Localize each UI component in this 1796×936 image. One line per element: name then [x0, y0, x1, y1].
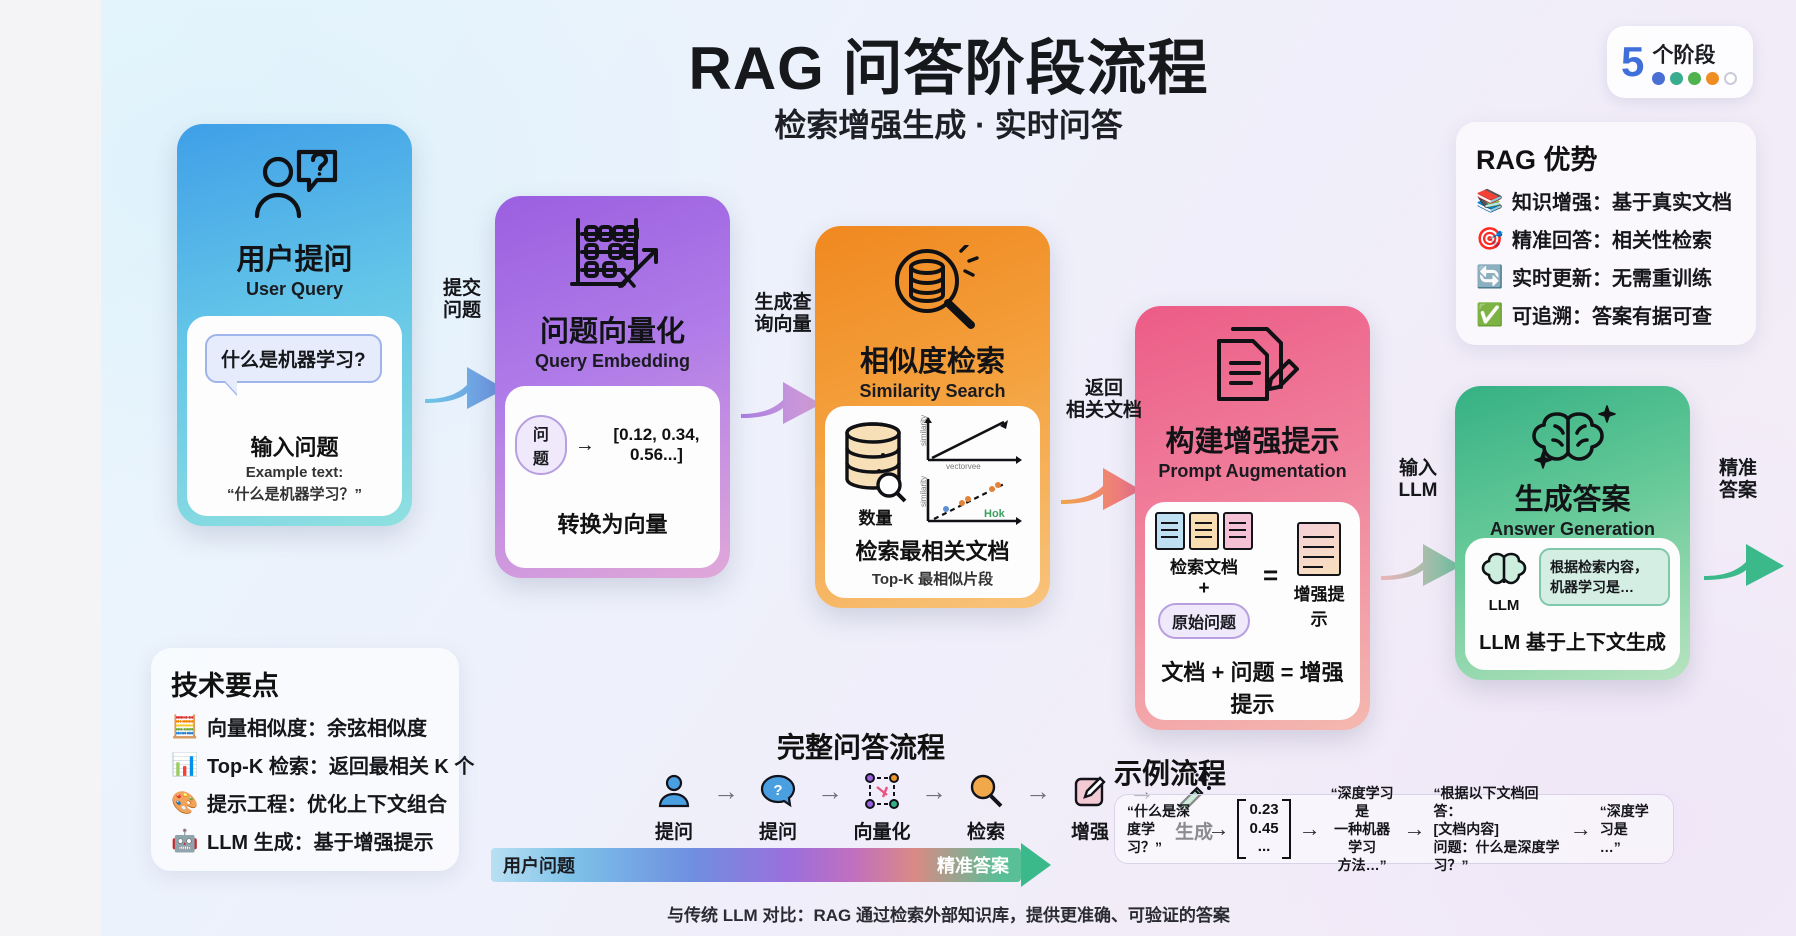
flow-separator: → — [811, 768, 849, 814]
flow-step-label: 向量化 — [849, 817, 915, 844]
stage-title-cn: 生成答案 — [1455, 476, 1690, 518]
arrow-label-1: 提交问题 — [431, 278, 493, 323]
example-cell-question: “什么是深度学习？” — [1127, 802, 1199, 857]
result-label: 增强提示 — [1288, 580, 1350, 630]
query-pill: 问题 — [515, 415, 567, 475]
stage-count-badge: 5 个阶段 — [1607, 26, 1753, 98]
magnifier-database-icon — [815, 240, 1050, 336]
svg-text:vectorvee: vectorvee — [946, 462, 981, 470]
advantage-item: 🎯 精准回答：相关性检索 — [1476, 224, 1736, 253]
stage-dot — [1688, 72, 1701, 85]
flow-separator: → — [915, 768, 953, 814]
palette-icon: 🎨 — [171, 790, 197, 816]
flow-bar-right-label: 精准答案 — [937, 852, 1009, 878]
stage-count-number: 5 — [1621, 41, 1644, 83]
tech-point-text: 提示工程：优化上下文组合 — [207, 788, 447, 817]
docs-label: 检索文档 — [1155, 553, 1253, 578]
example-cell-prompt: “根据以下文档回答：[文档内容]问题：什么是深度学习？” — [1434, 784, 1562, 875]
flow-bar-left-label: 用户问题 — [503, 852, 575, 878]
tech-point-item: 📊 Top-K 检索：返回最相关 K 个 — [171, 750, 439, 779]
tech-point-item: 🎨 提示工程：优化上下文组合 — [171, 788, 439, 817]
example-title: 示例流程 — [1114, 752, 1226, 792]
advantages-title: RAG 优势 — [1476, 138, 1736, 177]
stage-title-en: User Query — [177, 279, 412, 300]
stage-dot — [1706, 72, 1719, 85]
svg-text:Hok: Hok — [984, 508, 1006, 520]
stage-body-sub: Top-K 最相似片段 — [835, 568, 1030, 589]
tech-point-text: 向量相似度：余弦相似度 — [207, 712, 427, 741]
similarity-scatter-chart: similarity Hok — [920, 475, 1030, 531]
llm-label: LLM — [1475, 597, 1533, 614]
stage-title-en: Prompt Augmentation — [1135, 461, 1370, 482]
flow-step[interactable]: 向量化 — [849, 768, 915, 844]
example-arrow: → — [1402, 816, 1428, 842]
person-icon — [641, 768, 707, 814]
stage-body-main: 输入问题 — [197, 430, 392, 462]
llm-brain-icon — [1481, 548, 1527, 592]
flow-arrow-4 — [1379, 522, 1465, 588]
example-cell-answer: “深度学习是…” — [1600, 802, 1661, 857]
books-icon: 📚 — [1476, 188, 1502, 214]
flow-arrow-5 — [1701, 522, 1789, 588]
stage-title-cn: 构建增强提示 — [1135, 418, 1370, 460]
vector-value: [0.12, 0.34, 0.56...] — [603, 425, 710, 465]
stage-card-prompt-augmentation[interactable]: 构建增强提示 Prompt Augmentation 检索文档 + 原始问题 — [1135, 306, 1370, 730]
flow-separator: → — [707, 768, 745, 814]
stage-body-main: 转换为向量 — [515, 507, 710, 539]
flow-progress-bar: 用户问题 精准答案 — [491, 848, 1021, 882]
stage-body-main: LLM 基于上下文生成 — [1475, 626, 1670, 655]
user-question-icon — [177, 138, 412, 234]
arrow-label-2: 生成查询向量 — [745, 292, 821, 337]
tech-point-item: 🤖 LLM 生成：基于增强提示 — [171, 826, 439, 855]
stage-body-main: 检索最相关文档 — [835, 534, 1030, 566]
answer-bubble: 根据检索内容， 机器学习是… — [1539, 548, 1670, 606]
rag-advantages-panel: RAG 优势 📚 知识增强：基于真实文档 🎯 精准回答：相关性检索 🔄 实时更新… — [1456, 122, 1756, 345]
stage-dot — [1670, 72, 1683, 85]
tech-point-item: 🧮 向量相似度：余弦相似度 — [171, 712, 439, 741]
flow-bar-arrow-tip — [1021, 843, 1051, 887]
equals-sign: = — [1263, 560, 1278, 591]
bar-chart-icon: 📊 — [171, 752, 197, 778]
magnifier-icon — [953, 768, 1019, 814]
example-arrow: → — [1568, 816, 1594, 842]
tech-point-text: Top-K 检索：返回最相关 K 个 — [207, 750, 474, 779]
similarity-line-chart: similarity vectorvee — [920, 412, 1030, 470]
stage-dots — [1652, 72, 1737, 85]
example-arrow: → — [1205, 816, 1231, 842]
flow-step-label: 提问 — [641, 817, 707, 844]
stage-card-user-query[interactable]: 用户提问 User Query 什么是机器学习? 输入问题 Example te… — [177, 124, 412, 526]
svg-text:?: ? — [773, 782, 782, 799]
example-cell-vector: 0.23 0.45 ... — [1237, 799, 1290, 859]
stage-body-main: 文档 + 问题 = 增强提示 — [1155, 655, 1350, 719]
advantage-item: 🔄 实时更新：无需重训练 — [1476, 262, 1736, 291]
infographic-canvas: RAG 问答阶段流程 检索增强生成 · 实时问答 5 个阶段 — [101, 0, 1796, 936]
stage-title-cn: 相似度检索 — [815, 338, 1050, 380]
stage-card-similarity-search[interactable]: 相似度检索 Similarity Search — [815, 226, 1050, 608]
plus-sign: + — [1155, 578, 1253, 600]
original-question-pill: 原始问题 — [1158, 603, 1250, 639]
tech-points-title: 技术要点 — [171, 664, 439, 703]
advantage-text: 精准回答：相关性检索 — [1512, 224, 1712, 253]
stage-title-en: Answer Generation — [1455, 519, 1690, 540]
flow-step[interactable]: ? 提问 — [745, 768, 811, 844]
stage-example-label: Example text: — [197, 464, 392, 481]
example-flow-box: “什么是深度学习？” → 0.23 0.45 ... → “深度学习是一种机器学… — [1114, 794, 1674, 864]
stage-example-text: “什么是机器学习？” — [197, 483, 392, 504]
advantage-item: 📚 知识增强：基于真实文档 — [1476, 186, 1736, 215]
tech-points-panel: 技术要点 🧮 向量相似度：余弦相似度 📊 Top-K 检索：返回最相关 K 个 … — [151, 648, 459, 871]
stage-title-en: Query Embedding — [495, 351, 730, 372]
flow-arrow-2 — [739, 360, 825, 426]
refresh-icon: 🔄 — [1476, 264, 1502, 290]
database-icon — [839, 419, 913, 503]
advantage-item: ✅ 可追溯：答案有据可查 — [1476, 300, 1736, 329]
flow-title: 完整问答流程 — [741, 726, 981, 766]
stage-card-query-embedding[interactable]: 问题向量化 Query Embedding 问题 → [0.12, 0.34, … — [495, 196, 730, 578]
footer-note: 与传统 LLM 对比：RAG 通过检索外部知识库，提供更准确、可验证的答案 — [101, 901, 1796, 926]
vector-nodes-icon — [849, 768, 915, 814]
svg-text:similarity: similarity — [920, 476, 928, 507]
arrow-label-4: 输入LLM — [1387, 458, 1449, 503]
flow-step[interactable]: 检索 — [953, 768, 1019, 844]
stage-count-label: 个阶段 — [1652, 39, 1737, 69]
stage-dot — [1724, 72, 1737, 85]
flow-separator: → — [1019, 768, 1057, 814]
abacus-chart-icon — [495, 210, 730, 306]
stage-title-cn: 问题向量化 — [495, 308, 730, 350]
stage-card-answer-generation[interactable]: 生成答案 Answer Generation LLM 根据检索内容， — [1455, 386, 1690, 680]
advantage-text: 知识增强：基于真实文档 — [1512, 186, 1732, 215]
question-bubble-icon: ? — [745, 768, 811, 814]
augmented-doc-icon — [1288, 522, 1350, 576]
query-bubble: 什么是机器学习? — [205, 334, 382, 383]
example-arrow: → — [1297, 816, 1323, 842]
arrow-label-5: 精准答案 — [1707, 458, 1769, 503]
arrow-glyph: → — [575, 434, 595, 457]
robot-icon: 🤖 — [171, 828, 197, 854]
check-icon: ✅ — [1476, 302, 1502, 328]
svg-text:similarity: similarity — [920, 415, 928, 446]
stage-dot — [1652, 72, 1665, 85]
page-title: RAG 问答阶段流程 — [101, 20, 1796, 107]
stage-title-en: Similarity Search — [815, 381, 1050, 402]
calculator-icon: 🧮 — [171, 714, 197, 740]
retrieved-docs-icons — [1155, 512, 1253, 550]
advantage-text: 可追溯：答案有据可查 — [1512, 300, 1712, 329]
documents-pencil-icon — [1135, 320, 1370, 416]
flow-step[interactable]: 提问 — [641, 768, 707, 844]
example-cell-retrieved: “深度学习是一种机器学习方法…” — [1329, 784, 1396, 875]
flow-step-label: 检索 — [953, 817, 1019, 844]
arrow-label-3: 返回相关文档 — [1051, 378, 1157, 423]
tech-point-text: LLM 生成：基于增强提示 — [207, 826, 434, 855]
flow-step-label: 提问 — [745, 817, 811, 844]
brain-sparkle-icon — [1455, 400, 1690, 474]
database-label: 数量 — [835, 504, 916, 529]
target-icon: 🎯 — [1476, 226, 1502, 252]
flow-arrow-3 — [1059, 446, 1145, 512]
advantage-text: 实时更新：无需重训练 — [1512, 262, 1712, 291]
letterbox-left — [0, 0, 101, 936]
stage-title-cn: 用户提问 — [177, 236, 412, 278]
